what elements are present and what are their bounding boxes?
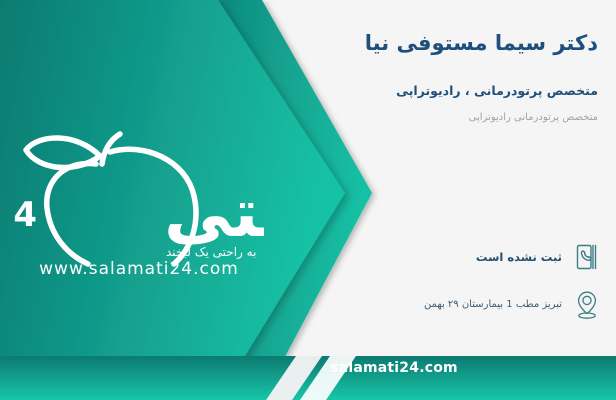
- phone-value: ثبت نشده است: [476, 249, 562, 265]
- address-value: تبریز مطب 1 بیمارستان ۲۹ بهمن: [424, 298, 562, 312]
- contact-info-list: ثبت نشده است تبریز مطب 1 بیمارستان ۲۹ به…: [316, 240, 602, 336]
- footer-site-url[interactable]: salamati24.com: [86, 360, 616, 376]
- doctor-profile-card: سلامتی 24 به راحتی یک لبخند www.salamati…: [0, 0, 616, 400]
- address-row[interactable]: تبریز مطب 1 بیمارستان ۲۹ بهمن: [316, 288, 602, 322]
- doctor-name: دکتر سیما مستوفی نیا: [316, 30, 602, 57]
- location-pin-icon: [572, 288, 602, 322]
- phone-row[interactable]: ثبت نشده است: [316, 240, 602, 274]
- doctor-specialty-secondary: متخصص پرتودرمانی رادیوتراپی: [316, 112, 602, 123]
- phonebook-icon: [572, 240, 602, 274]
- doctor-specialty: متخصص پرتودرمانی ، رادیوتراپی: [316, 83, 602, 98]
